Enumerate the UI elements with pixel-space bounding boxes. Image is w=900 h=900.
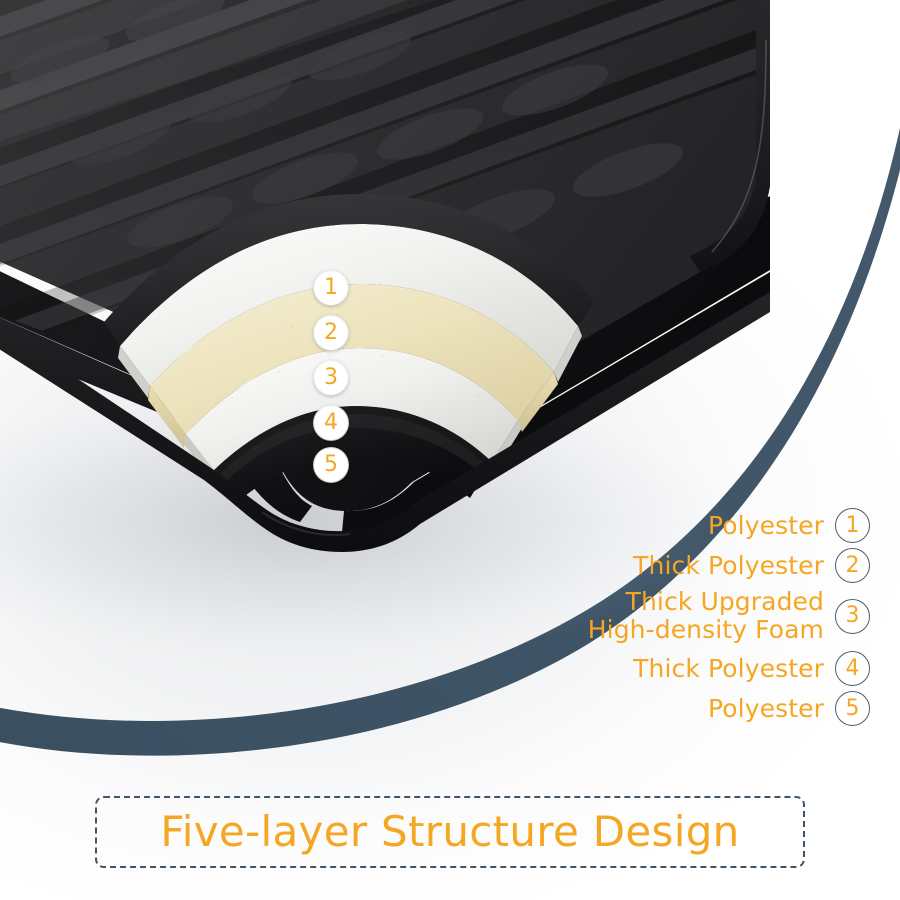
legend-number-3: 3 [835, 599, 870, 634]
callout-badge-4[interactable]: 4 [314, 406, 348, 440]
legend-number-4: 4 [835, 651, 870, 686]
legend-label-4: Thick Polyester [633, 655, 824, 683]
legend-label-2: Thick Polyester [633, 552, 824, 580]
legend-number-2-value: 2 [846, 555, 860, 577]
infographic-canvas: 1 2 3 4 5 Polyester 1 Thick Polyester 2 [0, 0, 900, 900]
callout-badge-3-number: 3 [324, 367, 338, 389]
callout-badge-4-number: 4 [324, 412, 338, 434]
legend-row-3[interactable]: Thick Upgraded High-density Foam 3 [470, 588, 870, 644]
page-title: Five-layer Structure Design [160, 811, 739, 853]
legend-number-1-value: 1 [846, 515, 860, 537]
legend-number-5-value: 5 [846, 698, 860, 720]
legend-row-4[interactable]: Thick Polyester 4 [470, 651, 870, 686]
callout-badge-3[interactable]: 3 [314, 361, 348, 395]
legend-row-5[interactable]: Polyester 5 [470, 691, 870, 726]
legend-number-5: 5 [835, 691, 870, 726]
callout-badge-2[interactable]: 2 [314, 316, 348, 350]
legend-row-2[interactable]: Thick Polyester 2 [470, 548, 870, 583]
callout-badge-1-number: 1 [324, 277, 338, 299]
callout-badge-5[interactable]: 5 [314, 448, 348, 482]
callout-badge-1[interactable]: 1 [314, 271, 348, 305]
legend-label-5: Polyester [708, 695, 824, 723]
legend-number-2: 2 [835, 548, 870, 583]
mattress-topper-illustration [0, 0, 900, 900]
callout-badge-5-number: 5 [324, 454, 338, 476]
legend-label-3: Thick Upgraded High-density Foam [588, 588, 824, 644]
legend-number-1: 1 [835, 508, 870, 543]
legend-label-1: Polyester [708, 512, 824, 540]
legend-row-1[interactable]: Polyester 1 [470, 508, 870, 543]
title-banner: Five-layer Structure Design [95, 796, 805, 868]
layer-legend: Polyester 1 Thick Polyester 2 Thick Upgr… [470, 508, 870, 731]
legend-number-4-value: 4 [846, 658, 860, 680]
callout-badge-2-number: 2 [324, 322, 338, 344]
legend-number-3-value: 3 [846, 605, 860, 627]
